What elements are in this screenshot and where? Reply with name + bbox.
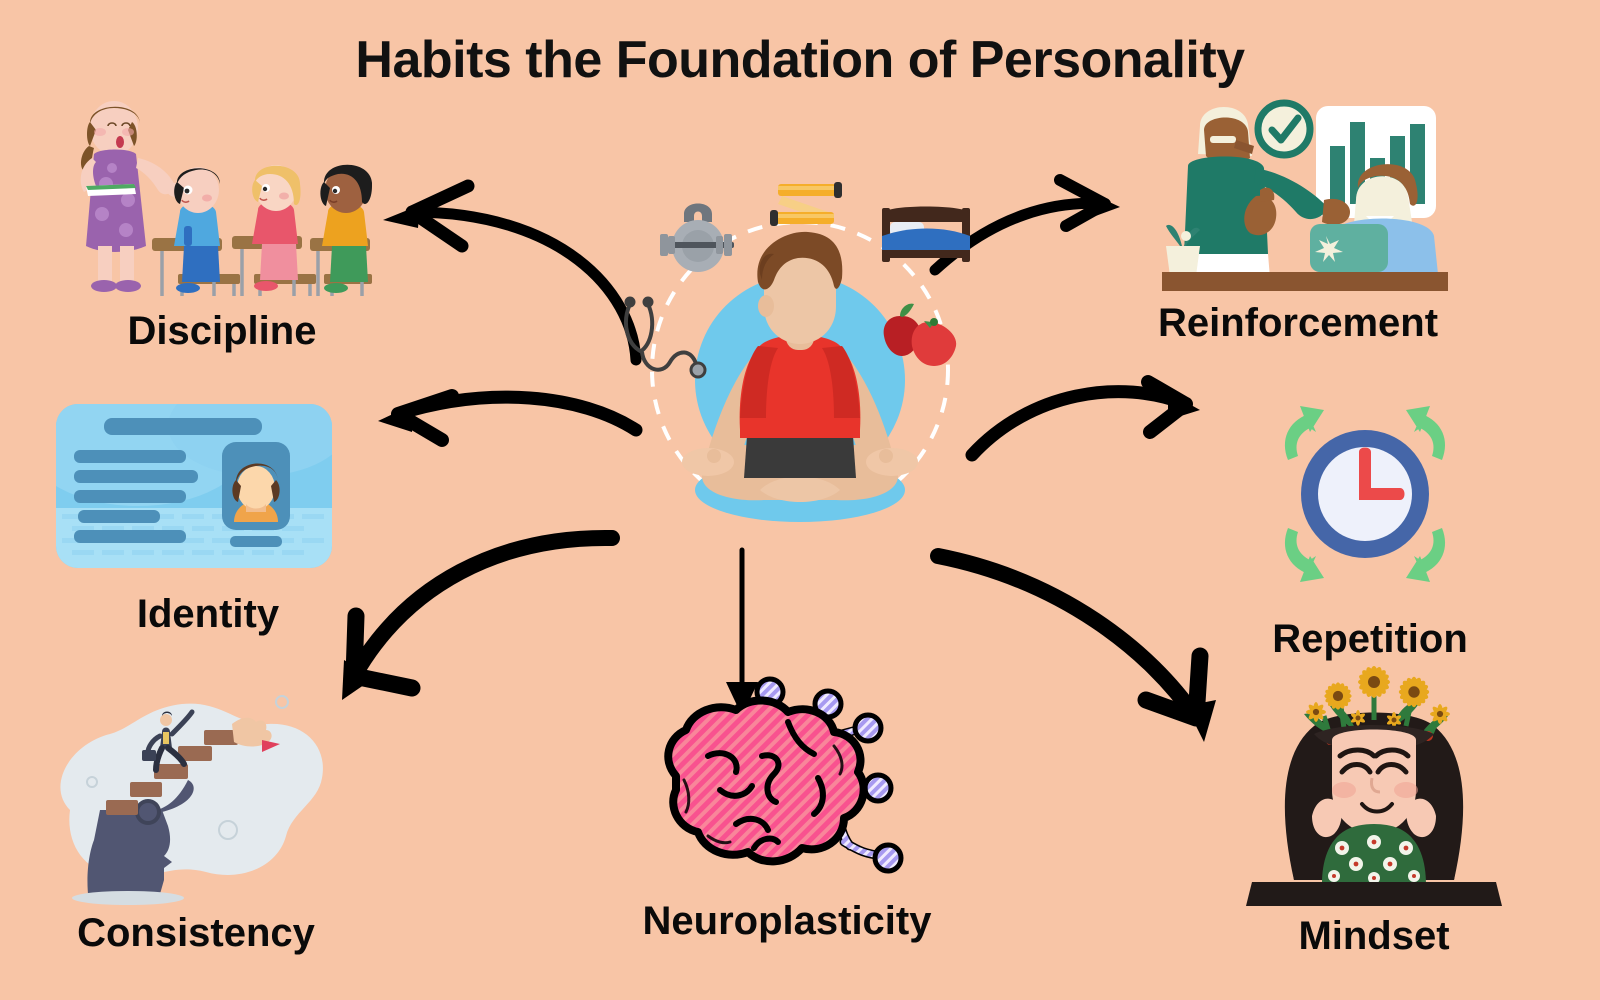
label-identity: Identity [48,593,368,635]
thumbs-up-praise-icon [1128,96,1458,291]
brain-neurons-icon [612,660,952,895]
measuring-tape-icon [770,182,842,226]
arrow-curve-down-right [938,556,1216,742]
node-identity[interactable]: Identity [48,396,368,635]
node-repetition[interactable]: Repetition [1240,388,1500,660]
mindset-art [1234,648,1514,913]
page-title: Habits the Foundation of Personality [0,30,1600,90]
id-card-icon [48,396,348,576]
head-staircase-icon [36,690,356,905]
orbit-icon-group [600,156,1000,576]
flower-head-girl-icon [1234,648,1514,908]
stethoscope-icon [626,299,705,378]
consistency-art [36,690,356,910]
node-consistency[interactable]: Consistency [36,690,356,954]
bed-icon [882,207,970,263]
arrow-curve-down-left [342,538,612,700]
node-reinforcement[interactable]: Reinforcement [1128,96,1468,344]
arrow-curve-left [378,396,636,440]
infographic-canvas: Habits the Foundation of Personality [0,0,1600,1000]
identity-art [48,396,368,581]
classroom-teacher-icon [62,96,372,301]
reinforcement-art [1128,96,1468,296]
kettlebell-icon [660,204,734,273]
arrow-curve-up-left [383,186,636,360]
discipline-art [62,96,382,306]
label-discipline: Discipline [62,310,382,352]
node-discipline[interactable]: Discipline [62,96,382,352]
node-neuroplasticity[interactable]: Neuroplasticity [612,660,962,942]
node-mindset[interactable]: Mindset [1234,648,1514,957]
label-consistency: Consistency [36,912,356,954]
student-2 [252,165,301,291]
neuroplasticity-art [612,660,962,900]
label-neuroplasticity: Neuroplasticity [612,900,962,942]
label-reinforcement: Reinforcement [1128,302,1468,344]
student-3 [320,165,372,293]
clock-cycle-icon [1240,388,1490,603]
repetition-art [1240,388,1500,608]
apple-tomato-icon [884,304,957,366]
label-mindset: Mindset [1234,915,1514,957]
center-node [640,190,960,555]
arrow-curve-right [972,382,1200,455]
